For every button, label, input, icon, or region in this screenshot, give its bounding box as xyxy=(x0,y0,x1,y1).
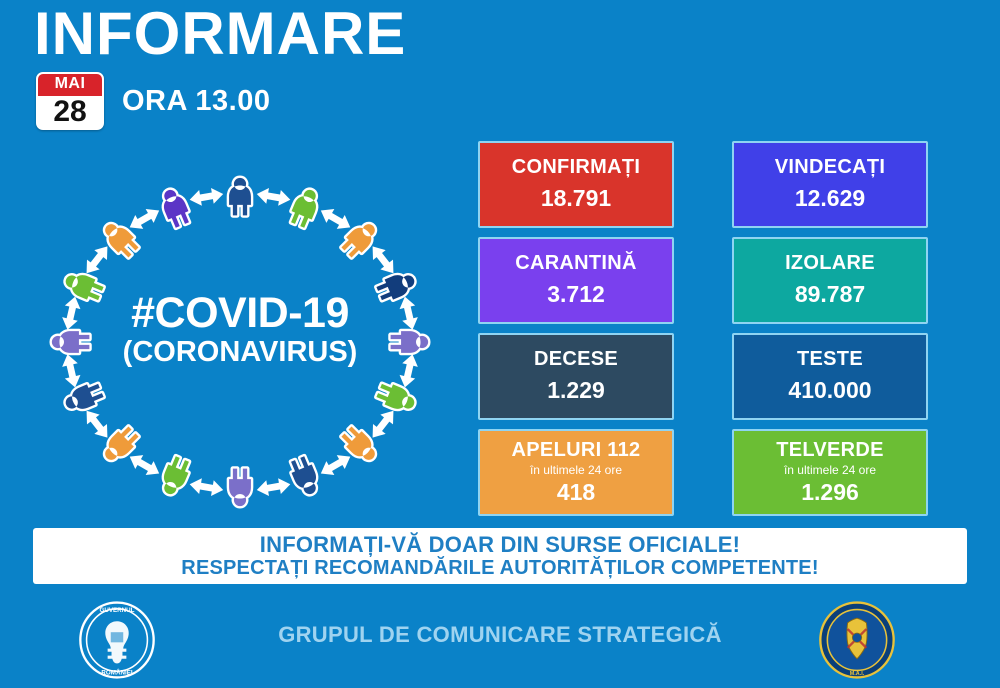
double-arrow-icon xyxy=(80,241,113,278)
calendar-month: MAI xyxy=(38,74,102,96)
stat-label: DECESE xyxy=(534,348,618,371)
double-arrow-icon xyxy=(366,406,399,443)
double-arrow-icon xyxy=(188,186,224,208)
stat-card-teste: TESTE410.000 xyxy=(732,333,928,420)
banner-line-1: INFORMAȚI-VĂ DOAR DIN SURSE OFICIALE! xyxy=(260,532,740,557)
stat-value: 418 xyxy=(557,479,595,507)
stat-value: 18.791 xyxy=(541,185,611,213)
social-distancing-circle-icon: #COVID-19 (CORONAVIRUS) xyxy=(20,160,460,525)
person-icon xyxy=(52,331,90,353)
double-arrow-icon xyxy=(60,295,83,332)
stat-value: 410.000 xyxy=(788,377,871,405)
covid-information-poster: INFORMARE MAI 28 ORA 13.00 #COVID-19 (CO… xyxy=(0,0,1000,688)
person-icon xyxy=(62,380,105,415)
stat-value: 1.229 xyxy=(547,377,605,405)
stat-card-izolare: IZOLARE89.787 xyxy=(732,237,928,324)
stat-card-confirma-i: CONFIRMAȚI18.791 xyxy=(478,141,674,228)
stat-sublabel: în ultimele 24 ore xyxy=(784,463,876,477)
double-arrow-icon xyxy=(366,241,399,278)
person-icon xyxy=(62,269,105,304)
person-icon xyxy=(229,469,251,507)
stat-value: 1.296 xyxy=(801,479,859,507)
stat-sublabel: în ultimele 24 ore xyxy=(530,463,622,477)
double-arrow-icon xyxy=(397,353,420,390)
person-icon xyxy=(288,186,323,229)
stat-card-decese: DECESE1.229 xyxy=(478,333,674,420)
stat-label: TESTE xyxy=(797,348,863,371)
double-arrow-icon xyxy=(255,186,291,208)
date-time-bar: MAI 28 ORA 13.00 xyxy=(36,72,271,130)
stat-value: 12.629 xyxy=(795,185,865,213)
stat-card-carantin: CARANTINĂ3.712 xyxy=(478,237,674,324)
svg-text:M.A.I.: M.A.I. xyxy=(850,671,865,677)
stat-value: 89.787 xyxy=(795,281,865,309)
page-title: INFORMARE xyxy=(34,2,406,65)
stat-label: IZOLARE xyxy=(785,252,875,275)
double-arrow-icon xyxy=(317,450,354,481)
person-icon xyxy=(158,186,193,229)
stat-label: CARANTINĂ xyxy=(515,252,637,275)
stat-label: APELURI 112 xyxy=(512,439,641,462)
person-icon xyxy=(158,455,193,498)
double-arrow-icon xyxy=(126,204,163,235)
official-sources-banner: INFORMAȚI-VĂ DOAR DIN SURSE OFICIALE! RE… xyxy=(33,528,967,584)
double-arrow-icon xyxy=(188,476,224,498)
person-icon xyxy=(391,331,429,353)
stat-label: VINDECAȚI xyxy=(775,156,885,179)
stat-label: TELVERDE xyxy=(776,439,884,462)
svg-text:GUVERNUL: GUVERNUL xyxy=(100,607,135,614)
svg-text:ROMÂNIEI: ROMÂNIEI xyxy=(101,669,132,676)
stat-card-vindeca-i: VINDECAȚI12.629 xyxy=(732,141,928,228)
person-icon xyxy=(375,380,418,415)
statistics-grid: CONFIRMAȚI18.791VINDECAȚI12.629CARANTINĂ… xyxy=(478,141,928,516)
stat-card-apeluri-112: APELURI 112în ultimele 24 ore418 xyxy=(478,429,674,516)
stat-label: CONFIRMAȚI xyxy=(512,156,641,179)
double-arrow-icon xyxy=(255,476,291,498)
double-arrow-icon xyxy=(126,450,163,481)
departamentul-situatii-urgenta-seal-icon: M.A.I. xyxy=(818,600,896,680)
person-icon xyxy=(375,269,418,304)
person-icon xyxy=(288,455,323,498)
double-arrow-icon xyxy=(60,353,83,390)
stat-value: 3.712 xyxy=(547,281,605,309)
circle-people-svg xyxy=(20,160,460,525)
report-time: ORA 13.00 xyxy=(122,85,271,118)
banner-line-2: RESPECTAȚI RECOMANDĂRILE AUTORITĂȚILOR C… xyxy=(181,557,818,580)
calendar-icon: MAI 28 xyxy=(36,72,104,130)
double-arrow-icon xyxy=(317,204,354,235)
calendar-day: 28 xyxy=(38,96,102,128)
stat-card-telverde: TELVERDEîn ultimele 24 ore1.296 xyxy=(732,429,928,516)
double-arrow-icon xyxy=(397,295,420,332)
footer: GUVERNUL ROMÂNIEI GRUPUL DE COMUNICARE S… xyxy=(0,596,1000,688)
double-arrow-icon xyxy=(80,406,113,443)
person-icon xyxy=(229,178,251,216)
